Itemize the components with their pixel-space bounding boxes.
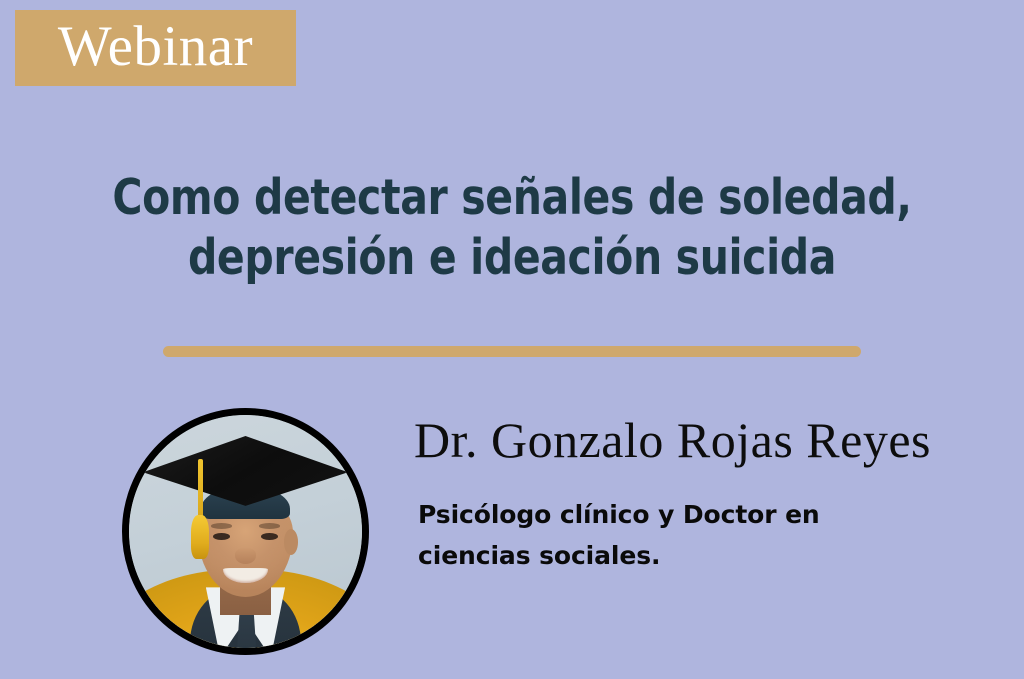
- webinar-promo-slide: Webinar Como detectar señales de soledad…: [0, 0, 1024, 679]
- eye-right: [261, 533, 278, 540]
- ear-right: [284, 529, 298, 555]
- webinar-badge-label: Webinar: [58, 18, 253, 75]
- avatar-image: [129, 415, 362, 648]
- title-line-2: depresión e ideación suicida: [36, 228, 988, 288]
- eyebrow-left: [211, 523, 232, 529]
- page-title: Como detectar señales de soledad, depres…: [0, 168, 1024, 288]
- speaker-avatar: [122, 408, 369, 655]
- tassel-knot: [191, 515, 210, 559]
- speaker-role-line-1: Psicólogo clínico y Doctor en: [418, 494, 888, 535]
- gold-divider: [163, 346, 861, 357]
- eyebrow-right: [259, 523, 280, 529]
- speaker-role: Psicólogo clínico y Doctor en ciencias s…: [418, 494, 888, 576]
- webinar-badge: Webinar: [15, 10, 296, 86]
- tassel-cord: [198, 459, 203, 520]
- nose: [235, 548, 256, 564]
- title-line-1: Como detectar señales de soledad,: [36, 168, 988, 228]
- speaker-name: Dr. Gonzalo Rojas Reyes: [414, 413, 931, 468]
- speaker-role-line-2: ciencias sociales.: [418, 535, 888, 576]
